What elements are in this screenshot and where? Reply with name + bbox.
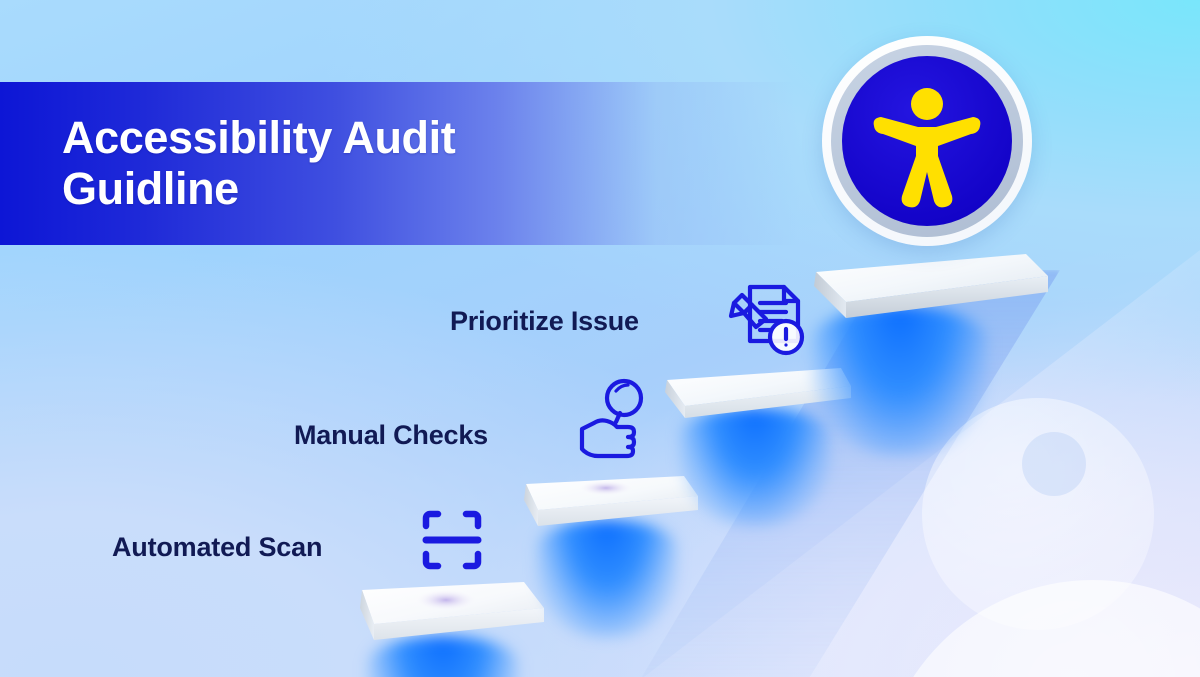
platform-step-1: [338, 578, 548, 656]
accessibility-badge: [822, 36, 1032, 246]
step-label-manual-checks: Manual Checks: [294, 420, 488, 451]
document-pencil-alert-icon: [726, 281, 806, 357]
platform-slab: [512, 470, 702, 540]
infographic-canvas: Accessibility Audit Guidline Prioritize …: [0, 0, 1200, 677]
page-title: Accessibility Audit Guidline: [0, 113, 455, 214]
accessibility-person-icon: [842, 56, 1012, 226]
step-label-automated-scan: Automated Scan: [112, 532, 322, 563]
background-circle-small: [1022, 432, 1086, 496]
platform-step-2: [512, 470, 702, 540]
hand-magnifier-icon: [576, 377, 654, 463]
step-label-prioritize-issue: Prioritize Issue: [450, 306, 639, 337]
scan-frame-icon: [418, 506, 486, 574]
background-circle-bottom: [878, 580, 1200, 677]
platform-slab: [800, 250, 1050, 330]
platform-slab: [338, 578, 548, 656]
title-banner: Accessibility Audit Guidline: [0, 82, 800, 245]
platform-top: [800, 250, 1050, 330]
